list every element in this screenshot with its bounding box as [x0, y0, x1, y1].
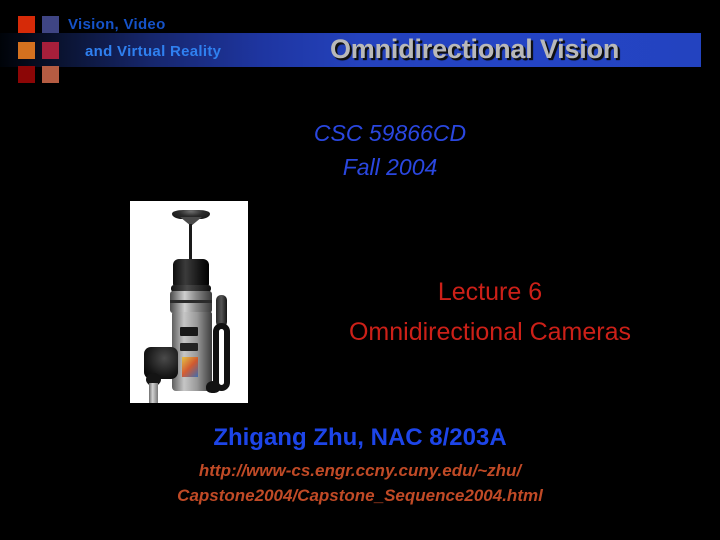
author-name-office: Zhigang Zhu, NAC 8/203A — [60, 424, 660, 452]
camera-lens-band — [170, 300, 212, 303]
camcorder-display-upper — [180, 327, 198, 336]
presentation-slide: Vision, Video and Virtual Reality Omnidi… — [0, 0, 720, 540]
square-salmon-brown-icon — [42, 66, 59, 83]
logo-line-two: and Virtual Reality — [85, 43, 221, 60]
lecture-info: Lecture 6 Omnidirectional Cameras — [290, 272, 690, 352]
author-url-line-two: Capstone2004/Capstone_Sequence2004.html — [60, 483, 660, 508]
slide-title: Omnidirectional Vision — [330, 34, 619, 65]
lecture-number: Lecture 6 — [290, 272, 690, 312]
course-info: CSC 59866CD Fall 2004 — [200, 116, 580, 184]
square-crimson-icon — [42, 42, 59, 59]
camcorder-base-foot — [206, 381, 220, 393]
square-red-orange-icon — [18, 16, 35, 33]
camcorder-body — [172, 312, 212, 391]
course-code: CSC 59866CD — [200, 116, 580, 150]
omnidirectional-camera-photo — [130, 201, 248, 403]
logo-line-one: Vision, Video — [68, 16, 166, 33]
camcorder-sticker — [182, 357, 198, 377]
lens-hood — [173, 259, 209, 287]
camera-illustration — [130, 201, 248, 403]
square-slate-blue-icon — [42, 16, 59, 33]
tripod-pole — [149, 383, 158, 403]
square-orange-icon — [18, 42, 35, 59]
lecture-topic: Omnidirectional Cameras — [290, 312, 690, 352]
camcorder-display-lower — [180, 343, 198, 351]
course-term: Fall 2004 — [200, 150, 580, 184]
author-url-line-one: http://www-cs.engr.ccny.cuny.edu/~zhu/ — [60, 458, 660, 483]
author-url: http://www-cs.engr.ccny.cuny.edu/~zhu/ C… — [60, 458, 660, 508]
decorative-square-grid — [18, 16, 60, 84]
mirror-support-rod — [189, 224, 192, 264]
square-dark-maroon-icon — [18, 66, 35, 83]
